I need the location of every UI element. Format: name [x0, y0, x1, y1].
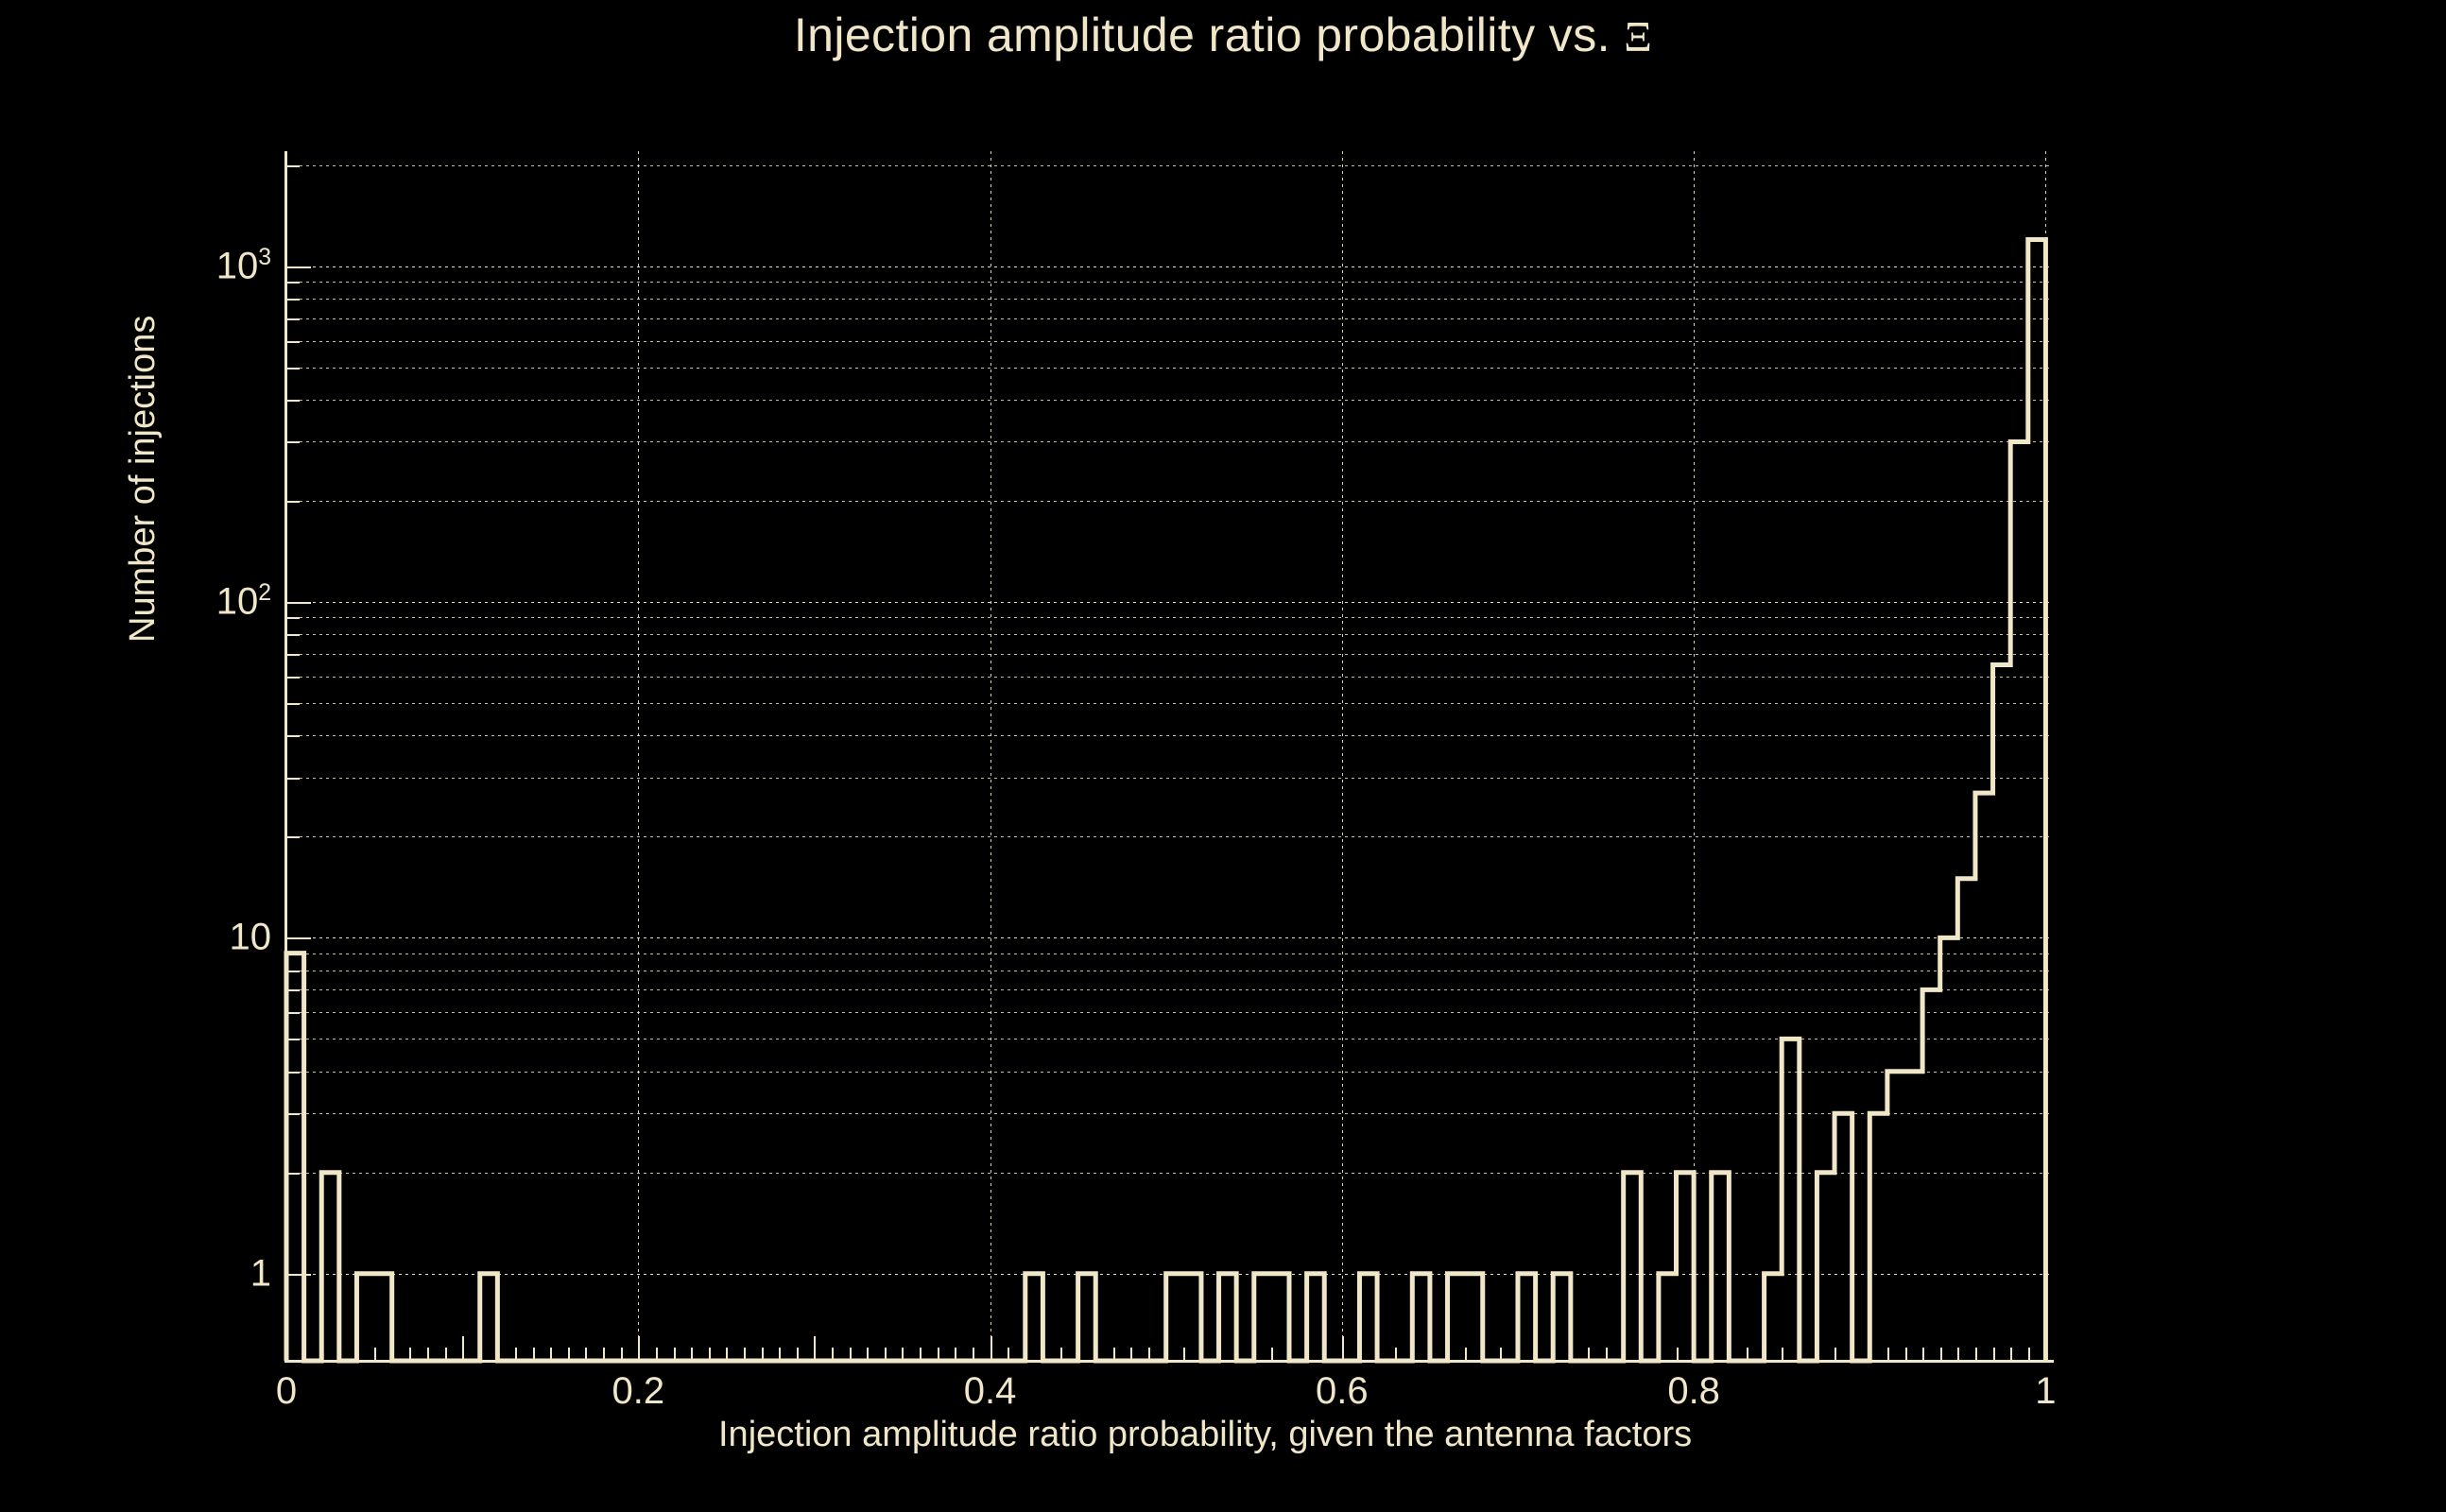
xi-symbol: Ξ — [1624, 12, 1652, 60]
histogram-outline — [286, 240, 2045, 1361]
x-tick-label: 0.6 — [1316, 1370, 1369, 1413]
y-tick-label: 102 — [216, 581, 271, 624]
x-tick-label: 0 — [276, 1370, 297, 1413]
plot-canvas: Injection amplitude ratio probability vs… — [0, 0, 2446, 1512]
x-tick-label: 1 — [2035, 1370, 2056, 1413]
page-title: Injection amplitude ratio probability vs… — [0, 8, 2446, 62]
y-tick-label: 1 — [250, 1252, 271, 1295]
y-tick-label: 103 — [216, 245, 271, 287]
x-tick-label: 0.8 — [1667, 1370, 1720, 1413]
y-axis-title: Number of injections — [123, 316, 164, 643]
histogram-plot — [286, 151, 2051, 1361]
x-tick-label: 0.2 — [611, 1370, 664, 1413]
x-tick-label: 0.4 — [964, 1370, 1017, 1413]
y-tick-label: 10 — [230, 917, 272, 959]
plot-frame — [286, 151, 2051, 1361]
title-text: Injection amplitude ratio probability vs… — [794, 9, 1624, 61]
x-axis-title: Injection amplitude ratio probability, g… — [718, 1415, 1692, 1455]
